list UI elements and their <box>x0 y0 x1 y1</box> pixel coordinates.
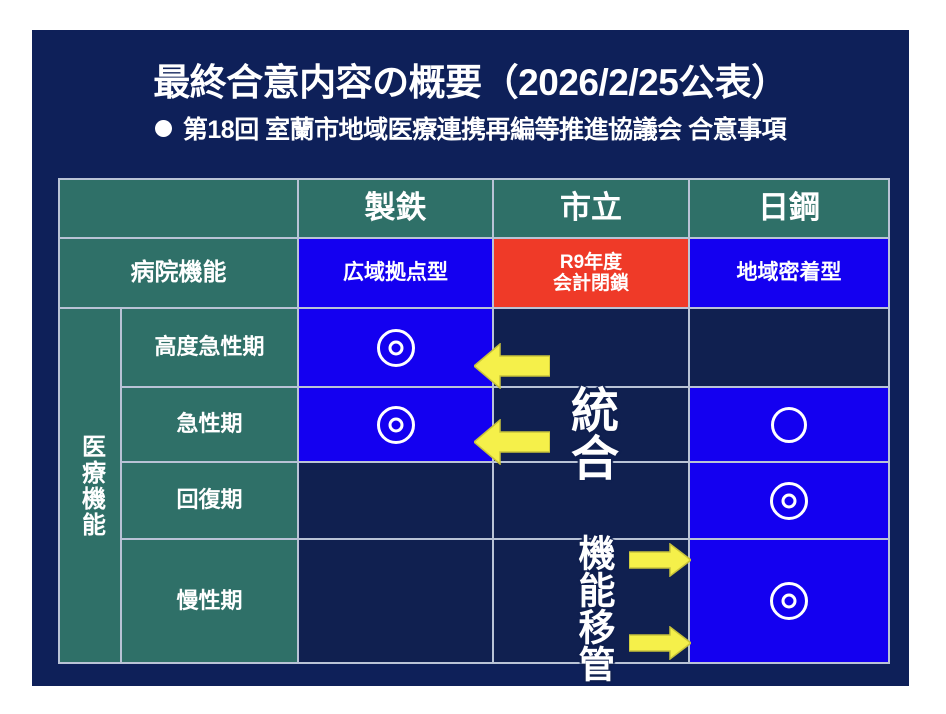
double-circle-icon <box>770 482 808 520</box>
double-circle-icon <box>770 582 808 620</box>
cell-recovery-nikko <box>690 463 888 538</box>
page-title: 最終合意内容の概要（2026/2/25公表） <box>32 52 909 106</box>
agreement-table: 製鉄 市立 日鋼 病院機能 広域拠点型 R9年度 会計閉鎖 地域密着型 医療機能… <box>58 178 890 664</box>
cell-chronic-shiritsu <box>494 540 688 662</box>
cell-high-acute-seitetsu <box>299 309 492 386</box>
cell-recovery-shiritsu <box>494 463 688 538</box>
slide-canvas: 最終合意内容の概要（2026/2/25公表） 第18回 室蘭市地域医療連携再編等… <box>32 30 909 686</box>
cell-chronic-nikko <box>690 540 888 662</box>
filled-circle-icon <box>155 120 172 137</box>
single-circle-icon <box>771 407 807 443</box>
double-circle-icon <box>377 406 415 444</box>
row-header-medical-function: 医療機能 <box>60 309 120 662</box>
cell-chronic-seitetsu <box>299 540 492 662</box>
cell-acute-shiritsu <box>494 388 688 461</box>
title-block: 最終合意内容の概要（2026/2/25公表） 第18回 室蘭市地域医療連携再編等… <box>32 30 909 176</box>
double-circle-icon <box>377 329 415 367</box>
column-header-nikko: 日鋼 <box>690 180 888 237</box>
cell-high-acute-shiritsu <box>494 309 688 386</box>
row-label-chronic: 慢性期 <box>122 540 297 662</box>
subtitle-text: 第18回 室蘭市地域医療連携再編等推進協議会 合意事項 <box>183 116 786 144</box>
row-label-high-acute: 高度急性期 <box>122 309 297 386</box>
column-header-shiritsu: 市立 <box>494 180 688 237</box>
row-header-hospital-function: 病院機能 <box>60 239 297 307</box>
hospital-function-seitetsu: 広域拠点型 <box>299 239 492 307</box>
cell-acute-nikko <box>690 388 888 461</box>
cell-acute-seitetsu <box>299 388 492 461</box>
column-header-seitetsu: 製鉄 <box>299 180 492 237</box>
row-header-medical-function-text: 医療機能 <box>77 434 104 538</box>
subtitle-row: 第18回 室蘭市地域医療連携再編等推進協議会 合意事項 <box>32 110 909 146</box>
cell-high-acute-nikko <box>690 309 888 386</box>
hospital-function-nikko: 地域密着型 <box>690 239 888 307</box>
cell-recovery-seitetsu <box>299 463 492 538</box>
row-label-acute: 急性期 <box>122 388 297 461</box>
hospital-function-shiritsu: R9年度 会計閉鎖 <box>494 239 688 307</box>
table-corner-cell <box>60 180 297 237</box>
row-label-recovery: 回復期 <box>122 463 297 538</box>
